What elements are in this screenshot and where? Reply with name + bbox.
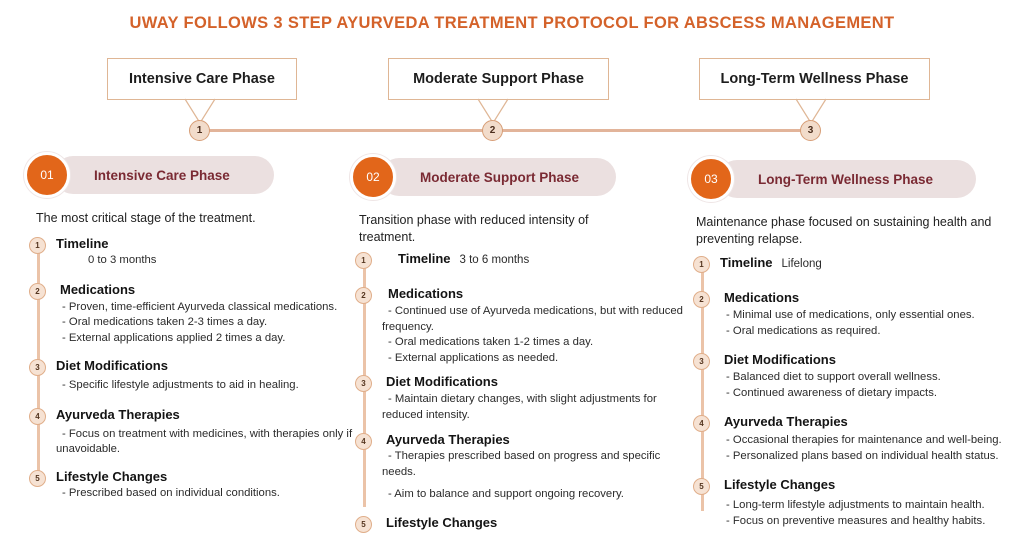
- step-title: Ayurveda Therapies: [56, 407, 180, 422]
- step-bullet: - Oral medications taken 2-3 times a day…: [56, 315, 354, 331]
- step-bullet: - Continued use of Ayurveda medications,…: [382, 304, 685, 335]
- step-dot: 5: [29, 470, 46, 487]
- step-item: 4 Ayurveda Therapies - Focus on treatmen…: [24, 407, 354, 458]
- step-title: Diet Modifications: [386, 374, 498, 389]
- callout-box-2: Moderate Support Phase: [388, 58, 609, 100]
- phase-intro-3: Maintenance phase focused on sustaining …: [696, 214, 996, 247]
- step-title: Lifestyle Changes: [724, 477, 835, 492]
- step-title: Lifestyle Changes: [56, 469, 167, 484]
- step-item: 2 Medications - Proven, time-efficient A…: [24, 282, 354, 347]
- step-dot: 4: [693, 415, 710, 432]
- step-dot: 2: [355, 287, 372, 304]
- page-title: UWAY FOLLOWS 3 STEP AYURVEDA TREATMENT P…: [0, 14, 1024, 33]
- phase-pill-2: Moderate Support Phase: [380, 158, 616, 196]
- callout-label-2: Moderate Support Phase: [413, 71, 584, 87]
- step-bullet: - Oral medications as required.: [720, 324, 1018, 340]
- timeline-node-3[interactable]: 3: [800, 120, 821, 141]
- step-dot: 2: [29, 283, 46, 300]
- step-dot: 5: [693, 478, 710, 495]
- phase-intro-2: Transition phase with reduced intensity …: [359, 212, 621, 245]
- step-bullet: - Balanced diet to support overall welln…: [720, 370, 1018, 386]
- step-bullet: - Proven, time-efficient Ayurveda classi…: [56, 300, 354, 316]
- step-title: Timeline: [56, 236, 109, 251]
- step-item: 1 Timeline 0 to 3 months: [24, 236, 354, 266]
- step-item: 2 Medications - Minimal use of medicatio…: [688, 290, 1018, 339]
- step-bullet: - Occasional therapies for maintenance a…: [720, 433, 1018, 449]
- step-dot: 4: [29, 408, 46, 425]
- step-bullet: - External applications as needed.: [382, 351, 685, 367]
- timeline-node-2[interactable]: 2: [482, 120, 503, 141]
- phase-column-1: Intensive Care Phase 01 The most critica…: [24, 152, 354, 502]
- phase-pill-label-3: Long-Term Wellness Phase: [758, 172, 933, 187]
- step-bullet: - Focus on preventive measures and healt…: [720, 514, 1018, 530]
- step-bullet: - Maintain dietary changes, with slight …: [382, 392, 685, 423]
- step-list-2: 1 Timeline 3 to 6 months 2 Medications -…: [350, 251, 685, 536]
- step-title: Diet Modifications: [724, 352, 836, 367]
- step-inline-value: Lifelong: [782, 258, 822, 270]
- step-bullet: - Oral medications taken 1-2 times a day…: [382, 335, 685, 351]
- step-title: Medications: [60, 282, 135, 297]
- step-item: 3 Diet Modifications - Balanced diet to …: [688, 352, 1018, 401]
- step-title: Diet Modifications: [56, 358, 168, 373]
- step-dot: 3: [29, 359, 46, 376]
- phase-column-3: Long-Term Wellness Phase 03 Maintenance …: [688, 156, 1018, 530]
- step-title: Timeline: [398, 251, 451, 266]
- callout-label-3: Long-Term Wellness Phase: [720, 71, 908, 87]
- step-list-3: 1 Timeline Lifelong 2 Medications - Mini…: [688, 255, 1018, 530]
- step-dot: 4: [355, 433, 372, 450]
- step-title: Lifestyle Changes: [386, 515, 497, 530]
- step-item: 5 Lifestyle Changes - Prescribed based o…: [24, 469, 354, 502]
- step-dot: 3: [693, 353, 710, 370]
- step-title: Ayurveda Therapies: [724, 414, 848, 429]
- phase-pill-label-1: Intensive Care Phase: [94, 168, 230, 183]
- step-bullet: - Long-term lifestyle adjustments to mai…: [720, 498, 1018, 514]
- step-bullet: - Personalized plans based on individual…: [720, 449, 1018, 465]
- phase-header-1: Intensive Care Phase 01: [24, 152, 354, 198]
- phase-pill-1: Intensive Care Phase: [54, 156, 274, 194]
- callout-box-3: Long-Term Wellness Phase: [699, 58, 930, 100]
- step-bullet: - Specific lifestyle adjustments to aid …: [56, 378, 354, 394]
- step-dot: 5: [355, 516, 372, 533]
- step-item: 4 Ayurveda Therapies - Therapies prescri…: [350, 432, 685, 502]
- timeline-rail: [199, 129, 811, 132]
- step-bullet: - Therapies prescribed based on progress…: [382, 449, 685, 480]
- callout-label-1: Intensive Care Phase: [129, 71, 275, 87]
- step-dot: 1: [355, 252, 372, 269]
- step-item: 1 Timeline 3 to 6 months: [350, 251, 685, 269]
- phase-badge-1: 01: [24, 152, 70, 198]
- step-item: 1 Timeline Lifelong: [688, 255, 1018, 273]
- step-bullet: - Aim to balance and support ongoing rec…: [382, 487, 685, 503]
- phase-pill-label-2: Moderate Support Phase: [420, 170, 579, 185]
- phase-pill-3: Long-Term Wellness Phase: [718, 160, 976, 198]
- step-title: Ayurveda Therapies: [386, 432, 510, 447]
- step-bullet: 0 to 3 months: [88, 254, 354, 266]
- phase-header-3: Long-Term Wellness Phase 03: [688, 156, 1018, 202]
- step-bullet: - Prescribed based on individual conditi…: [56, 486, 354, 502]
- step-bullet: - Focus on treatment with medicines, wit…: [56, 427, 354, 458]
- step-item: 2 Medications - Continued use of Ayurved…: [350, 286, 685, 366]
- phase-badge-2: 02: [350, 154, 396, 200]
- step-inline-value: 3 to 6 months: [460, 254, 530, 266]
- phase-badge-3: 03: [688, 156, 734, 202]
- step-title: Timeline: [720, 255, 773, 270]
- step-list-1: 1 Timeline 0 to 3 months 2 Medications -…: [24, 236, 354, 502]
- timeline-node-1[interactable]: 1: [189, 120, 210, 141]
- step-item: 4 Ayurveda Therapies - Occasional therap…: [688, 414, 1018, 464]
- step-title: Medications: [724, 290, 799, 305]
- step-item: 3 Diet Modifications - Maintain dietary …: [350, 374, 685, 423]
- callout-box-1: Intensive Care Phase: [107, 58, 297, 100]
- step-bullet: - Continued awareness of dietary impacts…: [720, 386, 1018, 402]
- step-dot: 2: [693, 291, 710, 308]
- step-item: 3 Diet Modifications - Specific lifestyl…: [24, 358, 354, 394]
- phase-header-2: Moderate Support Phase 02: [350, 154, 685, 200]
- step-item: 5 Lifestyle Changes Continue with lifest…: [350, 515, 685, 536]
- step-title: Medications: [388, 286, 463, 301]
- step-bullet: - Minimal use of medications, only essen…: [720, 308, 1018, 324]
- step-dot: 1: [29, 237, 46, 254]
- phase-intro-1: The most critical stage of the treatment…: [36, 210, 354, 227]
- step-dot: 3: [355, 375, 372, 392]
- step-bullet: - External applications applied 2 times …: [56, 331, 354, 347]
- step-item: 5 Lifestyle Changes - Long-term lifestyl…: [688, 477, 1018, 529]
- phase-column-2: Moderate Support Phase 02 Transition pha…: [350, 154, 685, 536]
- infographic-page: UWAY FOLLOWS 3 STEP AYURVEDA TREATMENT P…: [0, 0, 1024, 536]
- step-dot: 1: [693, 256, 710, 273]
